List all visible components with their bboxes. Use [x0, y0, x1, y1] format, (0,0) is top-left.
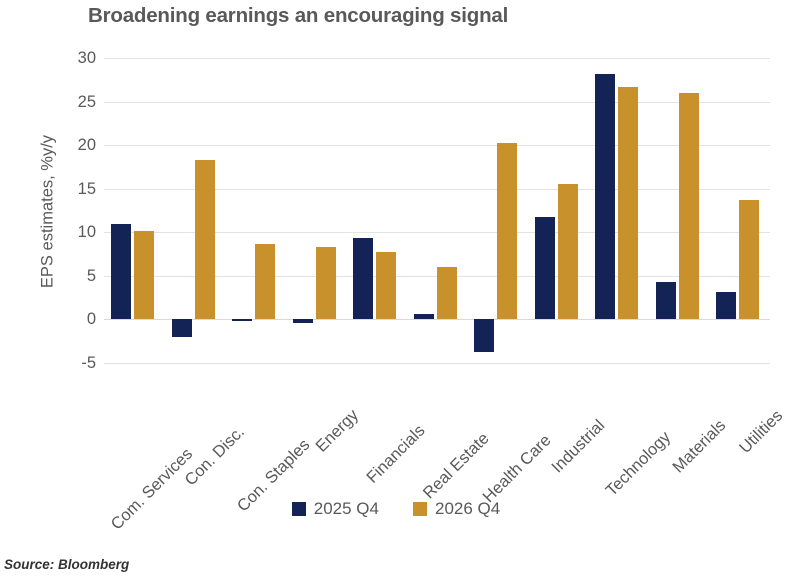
bar[interactable]	[595, 74, 615, 320]
bar-group	[467, 58, 528, 363]
bar-group	[225, 58, 286, 363]
bar-group	[286, 58, 347, 363]
x-tick-label-wrapper: Energy	[312, 406, 362, 456]
y-tick-label: 30	[52, 50, 96, 67]
chart-container: Broadening earnings an encouraging signa…	[0, 0, 792, 578]
y-axis-tick-labels: 302520151050-5	[44, 58, 96, 363]
legend-label: 2026 Q4	[435, 500, 500, 517]
legend-label: 2025 Q4	[314, 500, 379, 517]
x-tick-label-wrapper: Materials	[669, 416, 730, 477]
bar[interactable]	[232, 319, 252, 321]
bar[interactable]	[474, 319, 494, 351]
legend-item[interactable]: 2025 Q4	[292, 500, 379, 517]
bar-group	[165, 58, 226, 363]
bar[interactable]	[172, 319, 192, 336]
bar-group	[588, 58, 649, 363]
bar[interactable]	[255, 244, 275, 319]
bar-group	[104, 58, 165, 363]
bar[interactable]	[716, 292, 736, 319]
bar[interactable]	[497, 143, 517, 319]
source-note: Source: Bloomberg	[4, 557, 129, 572]
bar-group	[709, 58, 770, 363]
bar[interactable]	[111, 224, 131, 320]
y-tick-label: 5	[52, 268, 96, 285]
bar[interactable]	[437, 267, 457, 319]
x-tick-label: Industrial	[548, 416, 609, 477]
bar-group	[407, 58, 468, 363]
bar[interactable]	[618, 87, 638, 320]
legend-item[interactable]: 2026 Q4	[413, 500, 500, 517]
chart-legend: 2025 Q42026 Q4	[0, 500, 792, 517]
gridline--5	[104, 363, 770, 364]
bar-group	[528, 58, 589, 363]
x-tick-label-wrapper: Utilities	[736, 407, 787, 458]
bar[interactable]	[376, 252, 396, 319]
plot-area	[104, 58, 770, 363]
bar[interactable]	[293, 319, 313, 322]
bar[interactable]	[739, 200, 759, 319]
legend-swatch-icon	[292, 502, 306, 516]
x-tick-label: Com. Services	[108, 445, 197, 534]
bar[interactable]	[679, 93, 699, 320]
bar[interactable]	[134, 231, 154, 320]
y-tick-label: 0	[52, 311, 96, 328]
bar[interactable]	[656, 282, 676, 319]
bar[interactable]	[535, 217, 555, 320]
y-tick-label: 25	[52, 94, 96, 111]
x-tick-label: Utilities	[736, 407, 787, 458]
bar[interactable]	[353, 238, 373, 319]
bar[interactable]	[195, 160, 215, 319]
x-tick-label-wrapper: Technology	[602, 428, 674, 500]
chart-title: Broadening earnings an encouraging signa…	[88, 4, 708, 28]
bar-group	[649, 58, 710, 363]
bar[interactable]	[414, 314, 434, 319]
y-tick-label: 10	[52, 224, 96, 241]
x-tick-label: Materials	[669, 416, 730, 477]
bar-group	[346, 58, 407, 363]
x-tick-label: Energy	[312, 406, 362, 456]
y-tick-label: 20	[52, 137, 96, 154]
y-tick-label: 15	[52, 181, 96, 198]
x-tick-label: Technology	[602, 428, 674, 500]
x-tick-label-wrapper: Com. Services	[108, 445, 197, 534]
y-tick-label: -5	[52, 355, 96, 372]
x-tick-label: Financials	[364, 422, 430, 488]
bar[interactable]	[316, 247, 336, 319]
x-tick-label-wrapper: Industrial	[548, 416, 609, 477]
legend-swatch-icon	[413, 502, 427, 516]
bar[interactable]	[558, 184, 578, 319]
x-tick-label-wrapper: Financials	[364, 422, 430, 488]
